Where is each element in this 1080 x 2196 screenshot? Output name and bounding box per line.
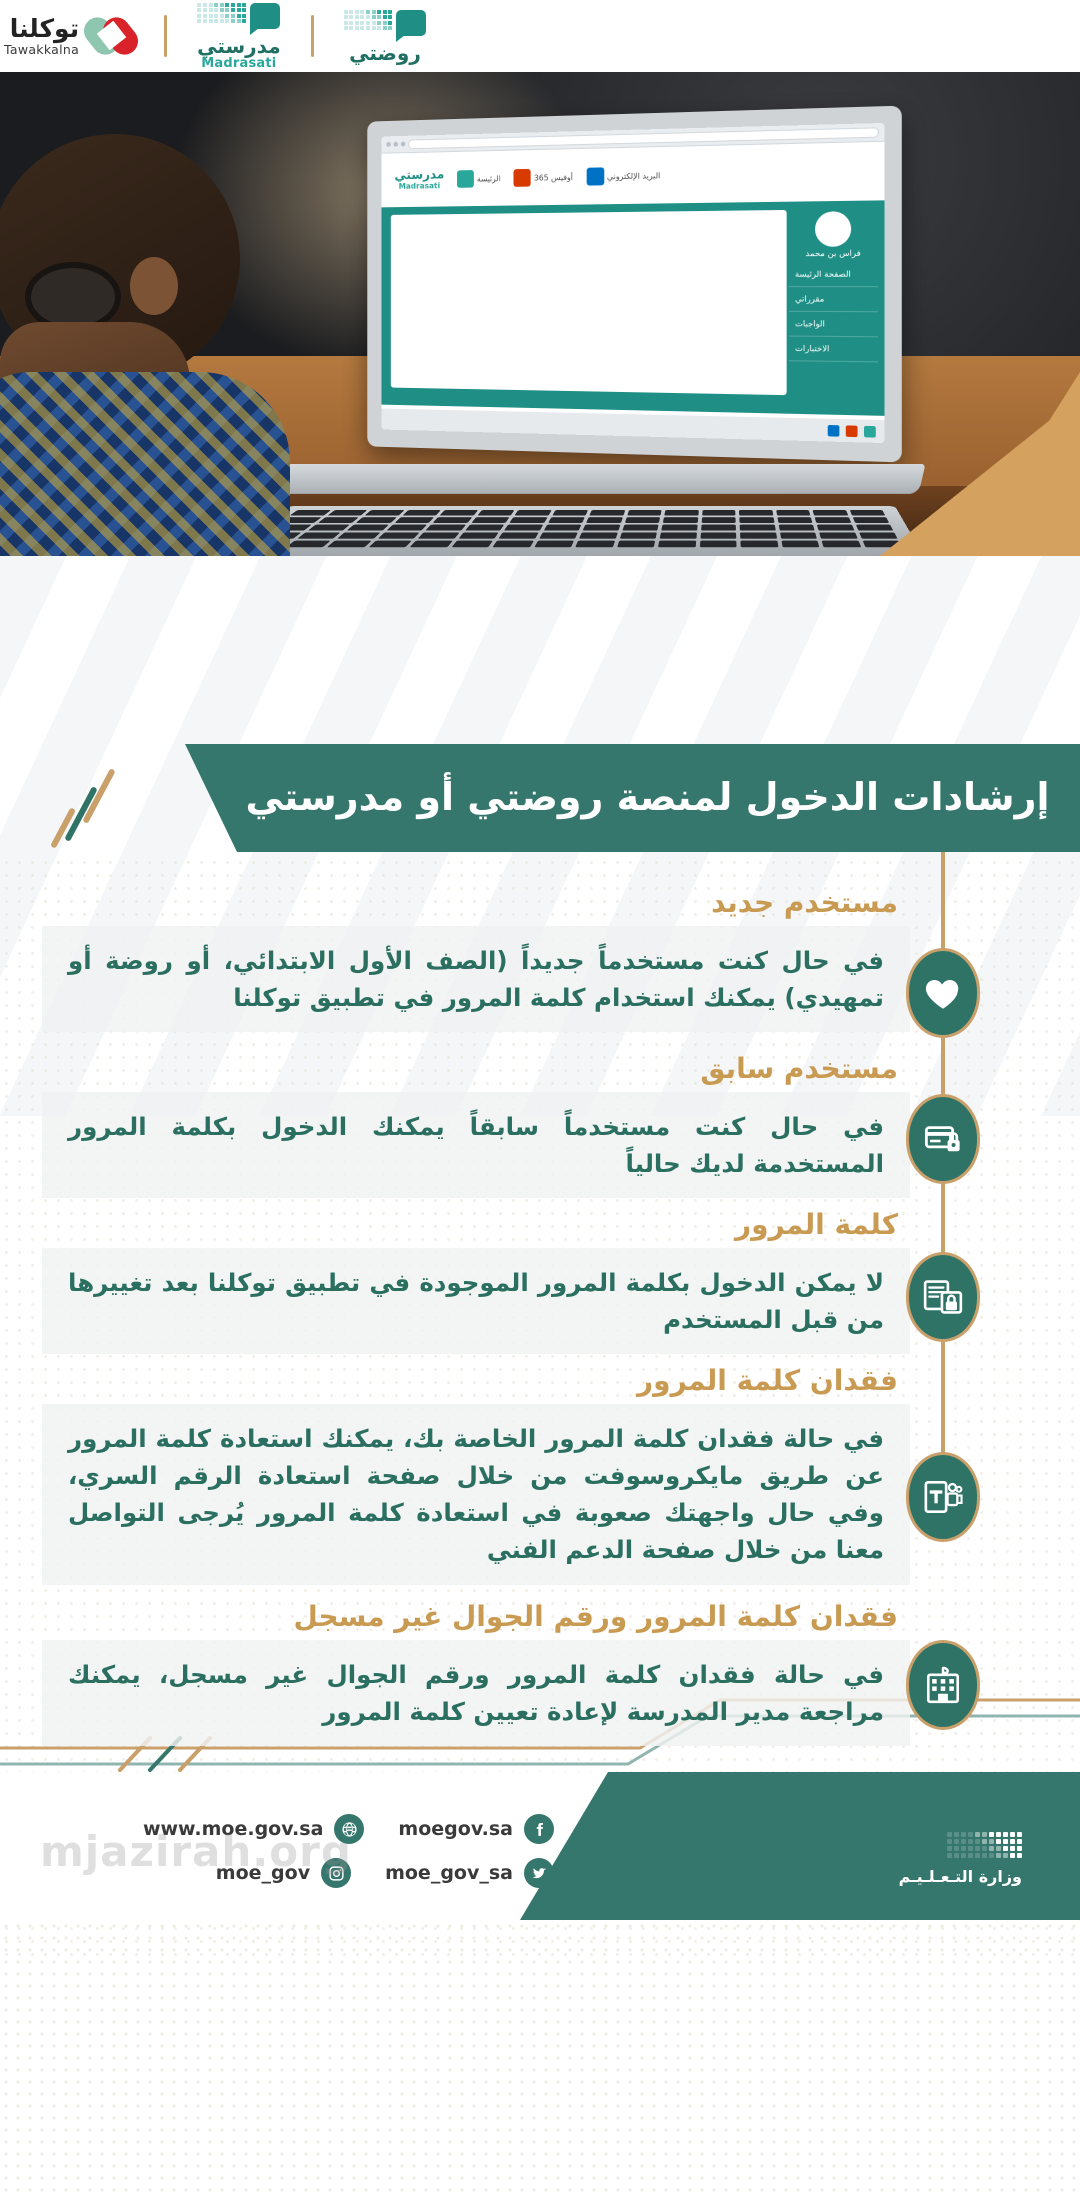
laptop-screen: مدرستي Madrasati الرئيسة أوفيس 365 البري… xyxy=(382,123,885,443)
section-heading: فقدان كلمة المرور ورقم الجوال غير مسجل xyxy=(0,1600,1080,1634)
logo-madrasati[interactable]: مدرستي Madrasati xyxy=(183,0,295,72)
sidebar-item-assignments[interactable]: الواجبات xyxy=(789,312,878,338)
logo-tawakkalna-arabic: توكلنا xyxy=(4,16,79,41)
section-body: في حالة فقدان كلمة المرور ورقم الجوال غي… xyxy=(42,1640,910,1746)
sidebar-item-exams[interactable]: الاختبارات xyxy=(789,337,878,363)
section-body: في حالة فقدان كلمة المرور الخاصة بك، يمك… xyxy=(42,1404,910,1585)
nav-office365[interactable]: أوفيس 365 xyxy=(514,168,573,187)
check-heart-icon xyxy=(906,948,980,1038)
page-title: إرشادات الدخول لمنصة روضتي أو مدرستي xyxy=(185,774,1079,822)
tawakkalna-heart-icon xyxy=(88,16,134,56)
logo-tawakkalna[interactable]: توكلنا Tawakkalna xyxy=(0,0,148,72)
hero-photo: مدرستي Madrasati الرئيسة أوفيس 365 البري… xyxy=(0,72,1080,556)
laptop-keyboard xyxy=(204,506,928,556)
sidebar-item-courses[interactable]: مقرراتي xyxy=(789,287,878,312)
laptop-illustration: مدرستي Madrasati الرئيسة أوفيس 365 البري… xyxy=(352,114,892,454)
rawdati-bubble-icon xyxy=(396,10,426,36)
madrasati-main-area: فراس بن محمد الصفحة الرئيسة مقرراتي الوا… xyxy=(382,200,885,416)
sidebar-item-home[interactable]: الصفحة الرئيسة xyxy=(789,262,878,287)
logo-madrasati-arabic: مدرستي xyxy=(197,36,281,56)
documents-lock-icon xyxy=(906,1252,980,1342)
section-heading: فقدان كلمة المرور xyxy=(0,1364,1080,1398)
section-body: في حال كنت مستخدماً سابقاً يمكنك الدخول … xyxy=(42,1092,910,1198)
school-building-icon xyxy=(906,1640,980,1730)
brand-logo-bar: توكلنا Tawakkalna مدرستي Madrasati xyxy=(0,0,1080,72)
user-name: فراس بن محمد xyxy=(789,249,878,259)
social-link-website[interactable]: www.moe.gov.sa xyxy=(143,1814,364,1844)
madrasati-topnav: مدرستي Madrasati الرئيسة أوفيس 365 البري… xyxy=(382,142,885,208)
card-lock-icon xyxy=(906,1094,980,1184)
nav-email[interactable]: البريد الإلكتروني xyxy=(586,166,660,185)
social-link-twitter[interactable]: moe_gov_sa xyxy=(385,1858,554,1888)
madrasati-site-logo: مدرستي Madrasati xyxy=(394,169,444,191)
madrasati-content-card xyxy=(391,210,787,395)
social-link-facebook[interactable]: moegov.sa xyxy=(398,1814,554,1844)
page-footer: وزارة التـعـلـيـم moegov.sa www.moe.gov.… xyxy=(0,1772,1080,1920)
section-heading: كلمة المرور xyxy=(0,1208,1080,1242)
page-title-banner: إرشادات الدخول لمنصة روضتي أو مدرستي xyxy=(185,744,1080,852)
social-link-instagram[interactable]: moe_gov xyxy=(216,1858,351,1888)
nav-home[interactable]: الرئيسة xyxy=(457,169,500,187)
rawdati-dots-icon xyxy=(344,10,393,31)
madrasati-bubble-icon xyxy=(250,3,280,29)
social-label: www.moe.gov.sa xyxy=(143,1818,323,1840)
social-label: moe_gov xyxy=(216,1862,310,1884)
section-heading: مستخدم جديد xyxy=(0,886,1080,920)
logo-divider-1 xyxy=(164,15,167,57)
section-body: لا يمكن الدخول بكلمة المرور الموجودة في … xyxy=(42,1248,910,1354)
logo-rawdati[interactable]: روضتي xyxy=(330,0,441,72)
logo-madrasati-latin: Madrasati xyxy=(201,57,276,70)
logo-tawakkalna-latin: Tawakkalna xyxy=(4,44,79,57)
section-body: في حال كنت مستخدماً جديداً (الصف الأول ا… xyxy=(42,926,910,1032)
madrasati-sidebar: فراس بن محمد الصفحة الرئيسة مقرراتي الوا… xyxy=(789,207,878,406)
social-label: moe_gov_sa xyxy=(385,1862,513,1884)
facebook-icon xyxy=(524,1814,554,1844)
microsoft-teams-icon xyxy=(906,1452,980,1542)
logo-divider-2 xyxy=(311,15,314,57)
madrasati-dots-icon xyxy=(197,3,246,24)
ministry-name: وزارة التـعـلـيـم xyxy=(899,1867,1022,1886)
ministry-of-education-logo: وزارة التـعـلـيـم xyxy=(899,1832,1022,1886)
logo-rawdati-arabic: روضتي xyxy=(349,43,421,63)
section-heading: مستخدم سابق xyxy=(0,1052,1080,1086)
social-links: moegov.sa www.moe.gov.sa moe_gov_sa m xyxy=(34,1814,554,1902)
avatar xyxy=(815,211,851,247)
social-label: moegov.sa xyxy=(398,1818,513,1840)
ministry-dots-icon xyxy=(899,1832,1022,1858)
globe-icon xyxy=(334,1814,364,1844)
instagram-icon xyxy=(321,1858,351,1888)
twitter-icon xyxy=(524,1858,554,1888)
